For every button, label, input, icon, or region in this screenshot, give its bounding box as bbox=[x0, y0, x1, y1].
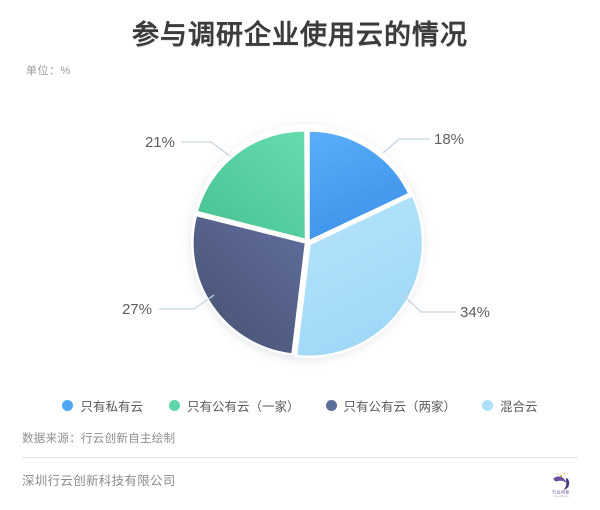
chart-canvas: 参与调研企业使用云的情况 单位：% bbox=[0, 0, 600, 510]
legend-label: 只有私有云 bbox=[80, 396, 143, 415]
page-title: 参与调研企业使用云的情况 bbox=[0, 18, 600, 52]
company-name-label: 深圳行云创新科技有限公司 bbox=[22, 470, 176, 489]
legend-label: 只有公有云（两家） bbox=[344, 396, 457, 415]
pie-chart: 18% 34% 27% 21% bbox=[0, 90, 600, 380]
legend-item-public-cloud-two[interactable]: 只有公有云（两家） bbox=[326, 396, 457, 415]
data-source-label: 数据来源：行云创新自主绘制 bbox=[22, 430, 175, 446]
leader-line-18 bbox=[383, 139, 430, 153]
legend-item-private-cloud[interactable]: 只有私有云 bbox=[62, 396, 143, 415]
unit-label: 单位：% bbox=[26, 62, 71, 78]
pie-label-27: 27% bbox=[122, 301, 152, 318]
pie-label-21: 21% bbox=[145, 134, 175, 151]
legend-swatch-icon bbox=[482, 400, 493, 411]
pie-chart-svg: 18% 34% 27% 21% bbox=[0, 90, 600, 380]
company-logo: 行云创新 CloudTogo bbox=[540, 466, 582, 500]
legend-item-hybrid-cloud[interactable]: 混合云 bbox=[482, 396, 538, 415]
leader-line-21 bbox=[181, 142, 230, 156]
legend-swatch-icon bbox=[326, 400, 337, 411]
legend-label: 混合云 bbox=[500, 396, 538, 415]
legend-swatch-icon bbox=[169, 400, 180, 411]
legend-label: 只有公有云（一家） bbox=[187, 396, 300, 415]
footer-divider bbox=[22, 457, 578, 458]
pie-label-34: 34% bbox=[460, 304, 490, 321]
pie-label-18: 18% bbox=[434, 131, 464, 148]
legend-swatch-icon bbox=[62, 400, 73, 411]
logo-subtext: CloudTogo bbox=[553, 494, 568, 498]
legend-item-public-cloud-one[interactable]: 只有公有云（一家） bbox=[169, 396, 300, 415]
chart-legend: 只有私有云 只有公有云（一家） 只有公有云（两家） 混合云 bbox=[0, 396, 600, 415]
